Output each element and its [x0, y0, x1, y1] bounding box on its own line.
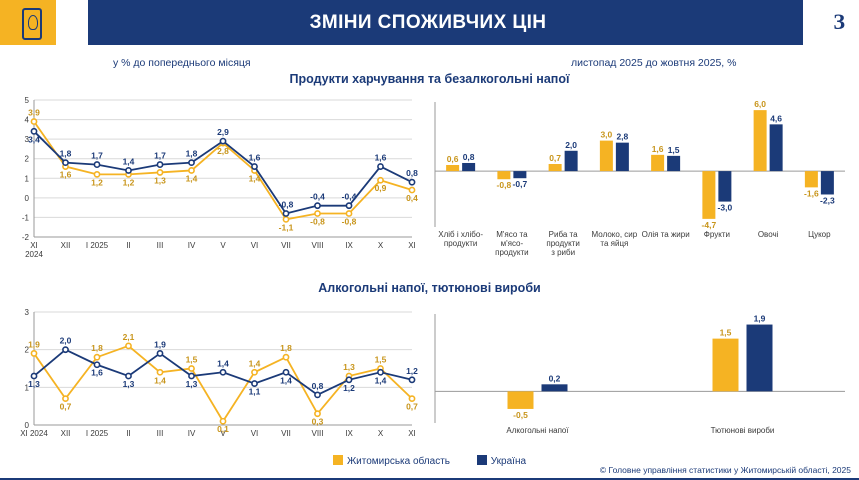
svg-text:1,4: 1,4: [123, 156, 135, 166]
svg-text:з риби: з риби: [551, 248, 575, 257]
subtitle-left: у % до попереднього місяця: [113, 57, 251, 69]
svg-text:-4,7: -4,7: [702, 220, 717, 230]
svg-text:1,1: 1,1: [249, 387, 261, 397]
svg-text:0,8: 0,8: [312, 381, 324, 391]
section-title-food: Продукти харчування та безалкогольні нап…: [0, 72, 859, 86]
svg-text:II: II: [126, 429, 130, 438]
legend-label-oblast: Житомирська область: [347, 456, 450, 467]
svg-text:1,4: 1,4: [217, 358, 229, 368]
svg-text:1,6: 1,6: [652, 144, 664, 154]
svg-text:продукти: продукти: [546, 239, 579, 248]
svg-text:IX: IX: [345, 241, 353, 250]
svg-text:4,6: 4,6: [770, 113, 782, 123]
svg-text:-2,3: -2,3: [820, 195, 835, 205]
svg-text:0,7: 0,7: [60, 402, 72, 412]
svg-text:0,3: 0,3: [312, 417, 324, 427]
svg-text:продукти: продукти: [495, 248, 528, 257]
svg-text:2,0: 2,0: [565, 140, 577, 150]
svg-text:IV: IV: [188, 429, 196, 438]
svg-text:Риба та: Риба та: [549, 230, 578, 239]
svg-text:1,8: 1,8: [60, 149, 72, 159]
svg-text:IX: IX: [345, 429, 353, 438]
legend-item-oblast: Житомирська область: [333, 456, 450, 467]
svg-text:1,3: 1,3: [154, 175, 166, 185]
svg-text:XII: XII: [61, 241, 71, 250]
svg-text:3,4: 3,4: [28, 134, 40, 144]
svg-text:Фрукти: Фрукти: [704, 230, 730, 239]
svg-text:1,7: 1,7: [154, 151, 166, 161]
page-header: ЗМІНИ СПОЖИВЧИХ ЦІН З: [0, 0, 859, 45]
svg-text:1,7: 1,7: [91, 151, 103, 161]
svg-text:VIII: VIII: [311, 241, 323, 250]
section-title-alcohol: Алкогольні напої, тютюнові вироби: [0, 281, 859, 295]
svg-text:1,3: 1,3: [28, 379, 40, 389]
legend-swatch-ukraine: [477, 455, 487, 465]
svg-text:2,8: 2,8: [217, 146, 229, 156]
svg-text:1,6: 1,6: [60, 170, 72, 180]
svg-text:продукти: продукти: [444, 239, 477, 248]
svg-text:-0,4: -0,4: [310, 192, 325, 202]
svg-text:1,6: 1,6: [375, 153, 387, 163]
svg-text:1,9: 1,9: [28, 339, 40, 349]
svg-text:X: X: [378, 429, 384, 438]
svg-text:0,9: 0,9: [375, 183, 387, 193]
svg-text:2,0: 2,0: [60, 336, 72, 346]
svg-text:1,2: 1,2: [343, 383, 355, 393]
svg-text:-0,8: -0,8: [310, 217, 325, 227]
svg-text:Тютюнові вироби: Тютюнові вироби: [711, 426, 775, 435]
svg-text:XII: XII: [61, 429, 71, 438]
svg-text:-0,5: -0,5: [513, 410, 528, 420]
svg-text:1,5: 1,5: [668, 145, 680, 155]
svg-text:Хліб і хлібо-: Хліб і хлібо-: [438, 230, 483, 239]
page-number: З: [833, 9, 845, 35]
svg-text:-1,6: -1,6: [804, 188, 819, 198]
svg-text:VII: VII: [281, 429, 291, 438]
svg-text:0,8: 0,8: [463, 152, 475, 162]
legend-item-ukraine: Україна: [477, 456, 526, 467]
svg-text:XI: XI: [408, 241, 416, 250]
svg-text:2,1: 2,1: [123, 332, 135, 342]
svg-text:XI 2024: XI 2024: [20, 429, 48, 438]
svg-text:-3,0: -3,0: [718, 203, 733, 213]
svg-text:-2: -2: [22, 233, 30, 242]
header-left-block: [0, 0, 88, 45]
subtitle-right: листопад 2025 до жовтня 2025, %: [571, 57, 736, 69]
svg-text:1,3: 1,3: [186, 379, 198, 389]
svg-text:1,8: 1,8: [186, 149, 198, 159]
svg-text:I 2025: I 2025: [86, 241, 109, 250]
svg-text:XI: XI: [408, 429, 416, 438]
svg-text:1,9: 1,9: [754, 314, 766, 324]
svg-text:IV: IV: [188, 241, 196, 250]
svg-text:0,7: 0,7: [406, 402, 418, 412]
svg-text:VII: VII: [281, 241, 291, 250]
chart-food-line: -2-1012345XI2024XIII 2025IIIIIIVVVIVIIVI…: [10, 86, 420, 271]
svg-text:I 2025: I 2025: [86, 429, 109, 438]
svg-text:1,3: 1,3: [123, 379, 135, 389]
svg-text:2,8: 2,8: [616, 132, 628, 142]
svg-text:1,4: 1,4: [154, 375, 166, 385]
footer-copyright: © Головне управління статистики у Житоми…: [600, 465, 851, 475]
svg-text:Овочі: Овочі: [758, 230, 779, 239]
svg-text:1,6: 1,6: [249, 153, 261, 163]
svg-text:VI: VI: [251, 429, 259, 438]
svg-text:1,5: 1,5: [186, 355, 198, 365]
svg-text:2024: 2024: [25, 250, 43, 259]
emblem-icon-inner: [28, 15, 38, 30]
svg-text:3,0: 3,0: [600, 130, 612, 140]
svg-text:III: III: [157, 429, 164, 438]
svg-text:-0,7: -0,7: [513, 179, 528, 189]
svg-text:-0,8: -0,8: [497, 180, 512, 190]
svg-text:1,4: 1,4: [280, 375, 292, 385]
svg-text:М'ясо та: М'ясо та: [496, 230, 528, 239]
chart-alcohol-line: 0123XI 2024XIII 2025IIIIIIVVVIVIIVIIIIXX…: [10, 296, 420, 451]
svg-text:1,5: 1,5: [375, 355, 387, 365]
svg-text:м'ясо-: м'ясо-: [501, 239, 524, 248]
svg-text:1,2: 1,2: [406, 366, 418, 376]
svg-text:2: 2: [25, 155, 30, 164]
legend-label-ukraine: Україна: [491, 456, 526, 467]
svg-text:-0,8: -0,8: [279, 200, 294, 210]
svg-text:1,9: 1,9: [154, 339, 166, 349]
svg-text:та яйця: та яйця: [600, 239, 628, 248]
svg-text:X: X: [378, 241, 384, 250]
svg-text:1,2: 1,2: [123, 177, 135, 187]
svg-text:6,0: 6,0: [754, 99, 766, 109]
svg-text:1,4: 1,4: [375, 375, 387, 385]
svg-text:0,8: 0,8: [406, 168, 418, 178]
svg-text:1,2: 1,2: [91, 177, 103, 187]
svg-text:1,8: 1,8: [280, 343, 292, 353]
legend-swatch-oblast: [333, 455, 343, 465]
svg-text:XI: XI: [30, 241, 38, 250]
chart-alcohol-bar: -0,50,2Алкогольні напої1,51,9Тютюнові ви…: [425, 296, 853, 451]
svg-text:Олія та жири: Олія та жири: [642, 230, 690, 239]
svg-text:3: 3: [25, 308, 30, 317]
svg-text:Алкогольні напої: Алкогольні напої: [506, 426, 569, 435]
svg-text:Цукор: Цукор: [808, 230, 831, 239]
chart-food-bar: 0,60,8Хліб і хлібо-продукти-0,8-0,7М'ясо…: [425, 86, 853, 271]
svg-text:1,4: 1,4: [249, 358, 261, 368]
svg-text:1,5: 1,5: [720, 328, 732, 338]
svg-text:-1,1: -1,1: [279, 222, 294, 232]
svg-text:Молоко, сир: Молоко, сир: [592, 230, 638, 239]
svg-text:1,6: 1,6: [91, 368, 103, 378]
svg-text:0,1: 0,1: [217, 424, 229, 434]
svg-text:-0,4: -0,4: [342, 192, 357, 202]
svg-text:3,9: 3,9: [28, 108, 40, 118]
svg-text:5: 5: [25, 96, 30, 105]
svg-text:V: V: [220, 241, 226, 250]
svg-text:VI: VI: [251, 241, 259, 250]
svg-text:0,7: 0,7: [549, 153, 561, 163]
svg-text:II: II: [126, 241, 130, 250]
svg-text:-1: -1: [22, 213, 30, 222]
svg-text:III: III: [157, 241, 164, 250]
svg-text:0,4: 0,4: [406, 193, 418, 203]
svg-text:1,8: 1,8: [91, 343, 103, 353]
svg-text:1,4: 1,4: [186, 173, 198, 183]
svg-text:1: 1: [25, 174, 30, 183]
svg-text:VIII: VIII: [311, 429, 323, 438]
svg-text:1,4: 1,4: [249, 173, 261, 183]
header-right-block: З: [803, 0, 859, 45]
svg-text:0,2: 0,2: [549, 373, 561, 383]
svg-text:0,6: 0,6: [447, 154, 459, 164]
svg-text:0: 0: [25, 194, 30, 203]
svg-text:-0,8: -0,8: [342, 217, 357, 227]
svg-text:1,3: 1,3: [343, 362, 355, 372]
svg-text:2,9: 2,9: [217, 127, 229, 137]
page-title: ЗМІНИ СПОЖИВЧИХ ЦІН: [88, 0, 768, 45]
emblem-icon: [22, 8, 42, 40]
